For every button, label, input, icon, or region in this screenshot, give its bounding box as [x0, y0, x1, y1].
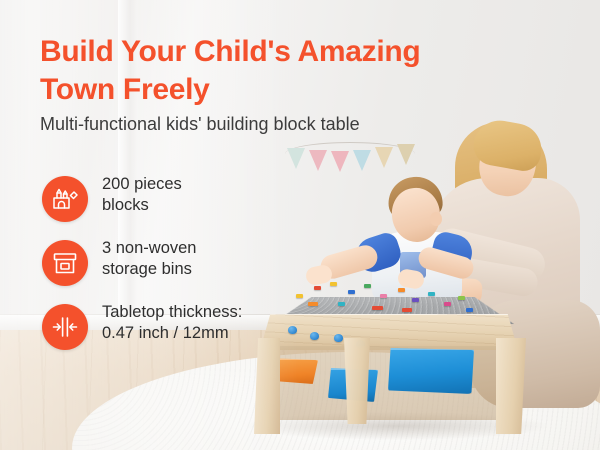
feature-item-thickness: Tabletop thickness: 0.47 inch / 12mm — [40, 300, 280, 364]
subheadline: Multi-functional kids' building block ta… — [40, 114, 460, 136]
feature-text-thickness: Tabletop thickness: 0.47 inch / 12mm — [102, 302, 292, 344]
feature-list: 200 pieces blocks 3 non-woven storage bi… — [40, 172, 280, 364]
feature-line-1: 3 non-woven — [102, 238, 292, 259]
feature-text-storage: 3 non-woven storage bins — [102, 238, 292, 280]
banner-content: Build Your Child's Amazing Town Freely M… — [0, 0, 600, 450]
headline-line-1: Build Your Child's Amazing — [40, 35, 420, 68]
product-banner: Build Your Child's Amazing Town Freely M… — [0, 0, 600, 450]
blocks-icon — [42, 176, 88, 222]
feature-line-2: blocks — [102, 195, 292, 216]
headline: Build Your Child's Amazing Town Freely — [40, 33, 510, 109]
thickness-icon — [42, 304, 88, 350]
feature-line-2: 0.47 inch / 12mm — [102, 323, 292, 344]
feature-line-2: storage bins — [102, 259, 292, 280]
feature-item-storage: 3 non-woven storage bins — [40, 236, 280, 300]
storage-bin-icon — [42, 240, 88, 286]
feature-line-1: 200 pieces — [102, 174, 292, 195]
feature-text-blocks: 200 pieces blocks — [102, 174, 292, 216]
feature-item-blocks: 200 pieces blocks — [40, 172, 280, 236]
feature-line-1: Tabletop thickness: — [102, 302, 292, 323]
headline-line-2: Town Freely — [40, 73, 210, 106]
